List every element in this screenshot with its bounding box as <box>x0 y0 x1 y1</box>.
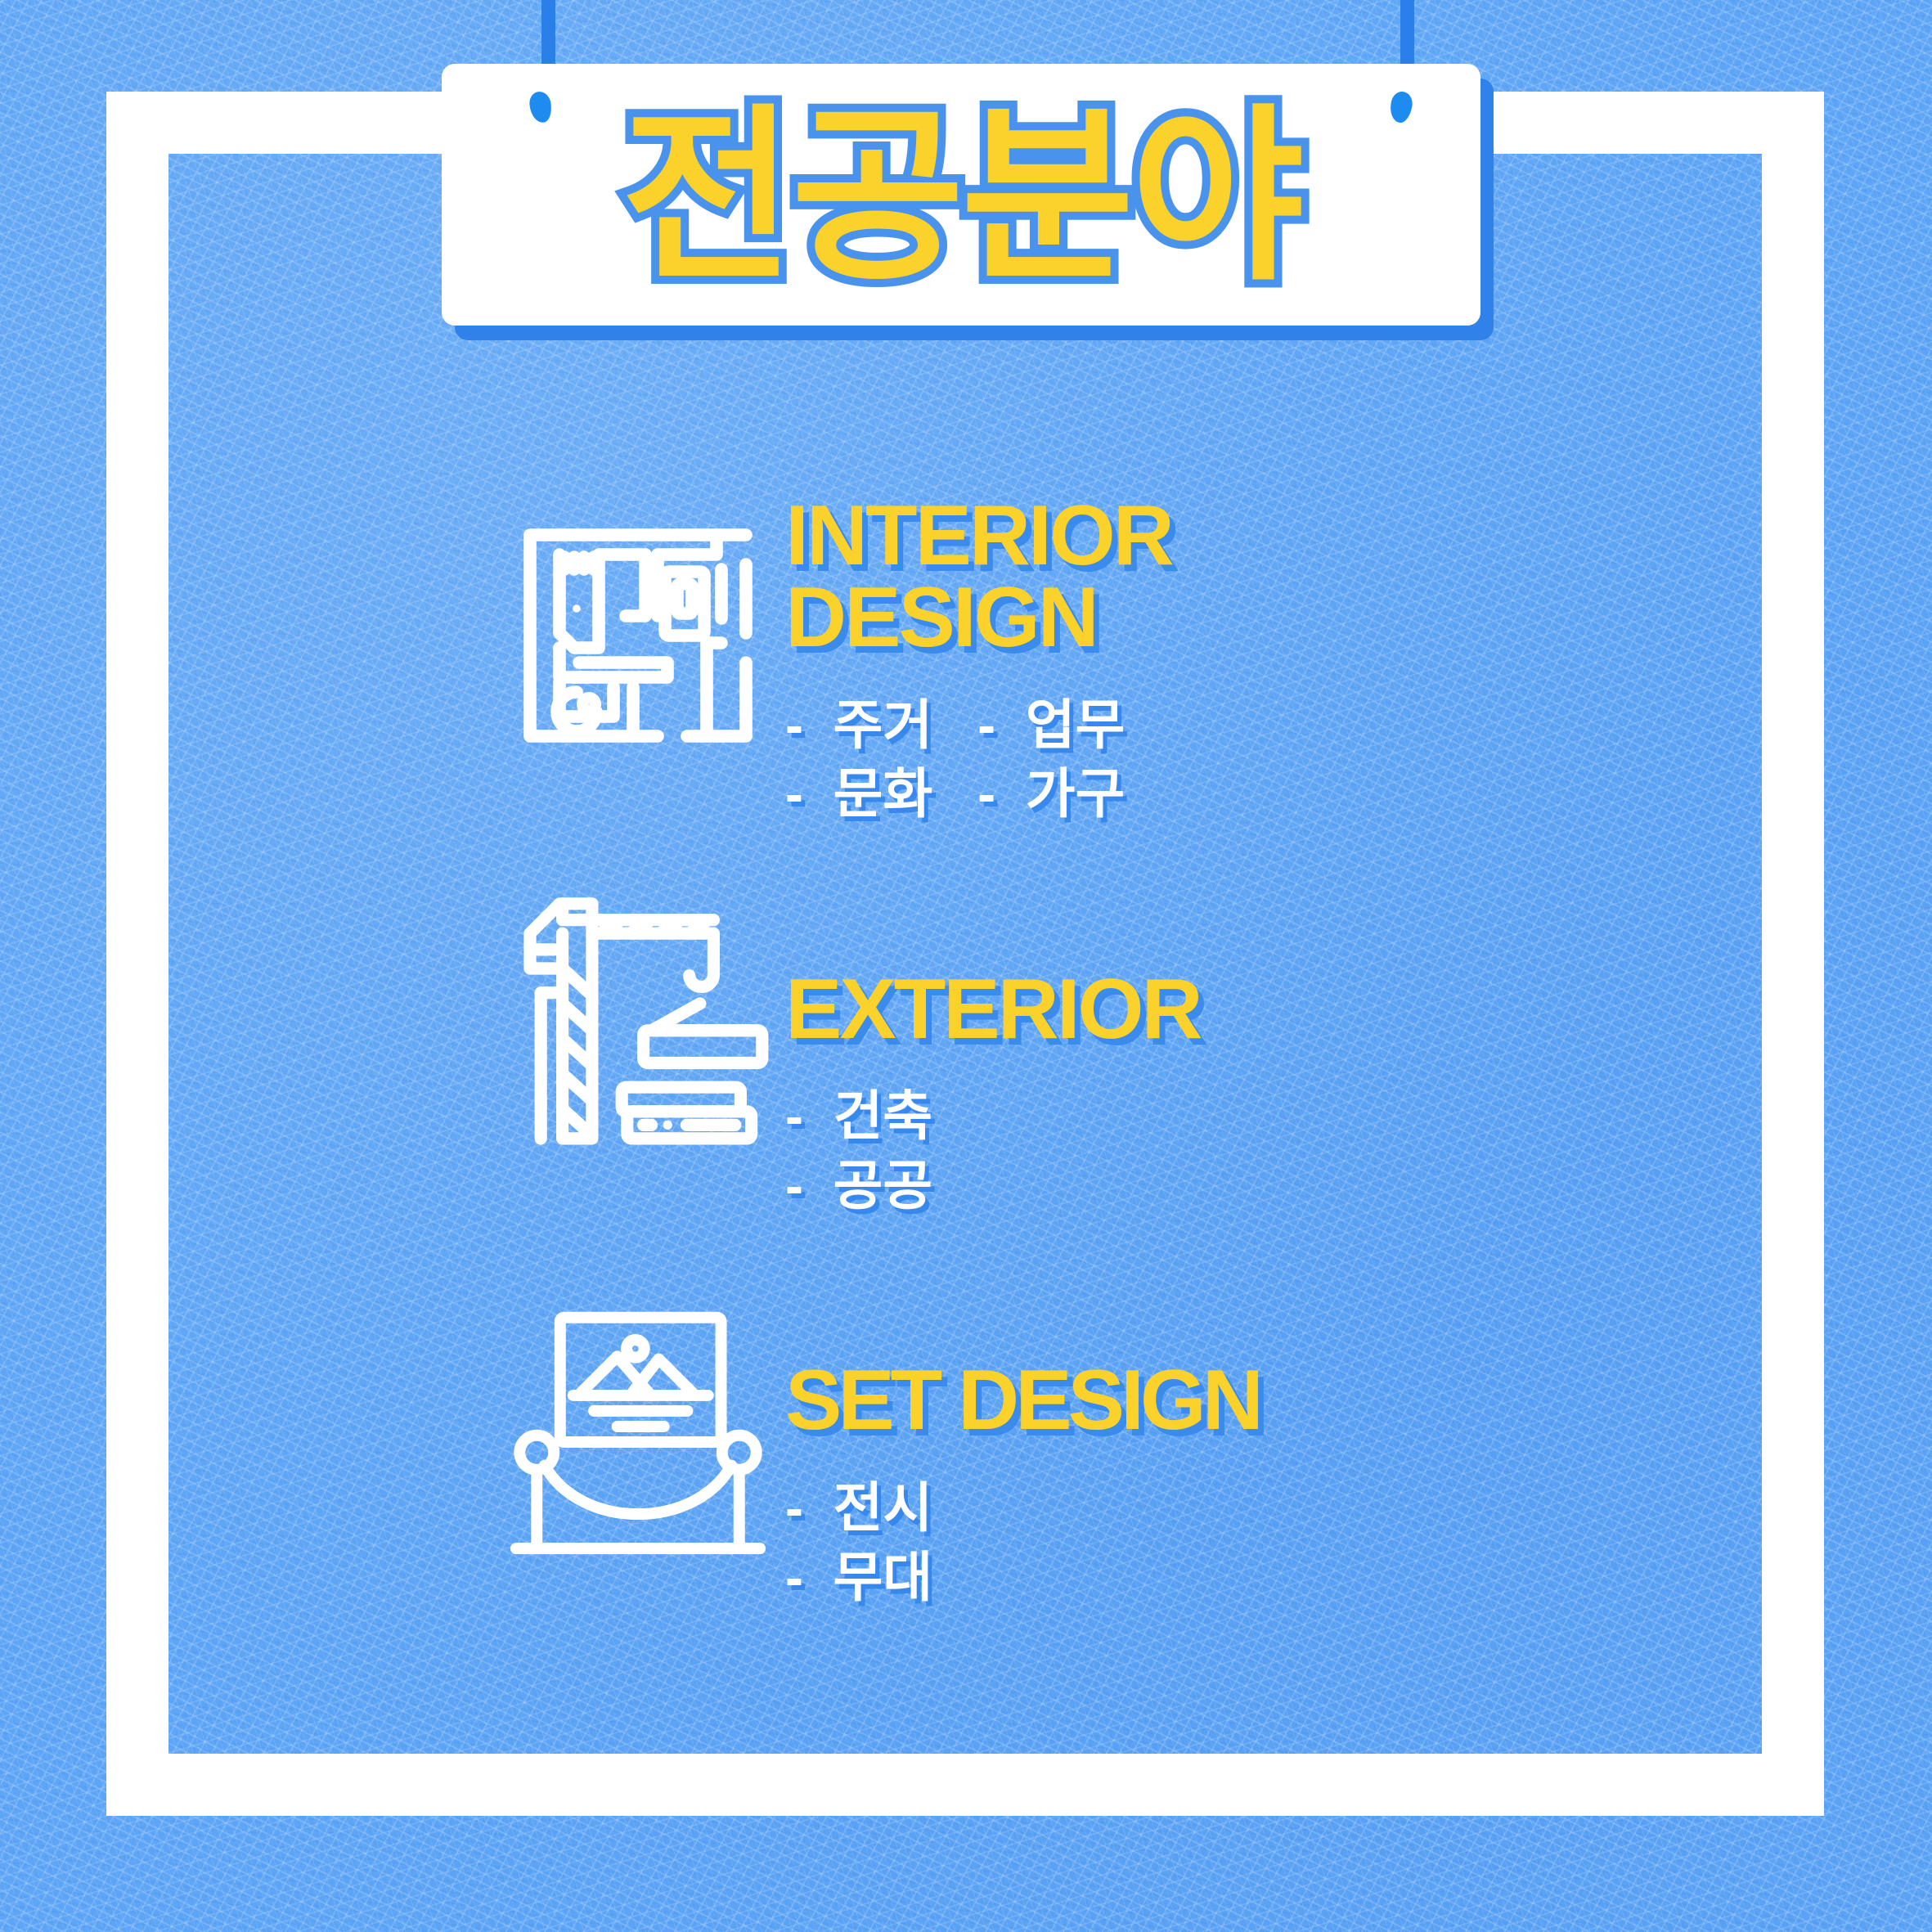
section-set-design: SET DESIGN - 전시 - 무대 <box>491 1277 1513 1611</box>
icon-column <box>491 491 785 751</box>
bullet-list: - 주거 - 업무 - 문화 - 가구 <box>785 690 1513 829</box>
section-heading: EXTERIOR <box>785 969 1513 1051</box>
poster-canvas: 전공분야 <box>0 0 1932 1932</box>
bullet-item: - 주거 - 업무 <box>785 690 1513 759</box>
bullet-item: - 무대 <box>785 1543 1513 1611</box>
section-interior-design: INTERIOR DESIGN - 주거 - 업무 - 문화 - 가구 <box>491 491 1513 829</box>
bullet-item: - 건축 <box>785 1081 1513 1150</box>
floor-plan-icon <box>515 505 761 751</box>
bullet-item: - 문화 - 가구 <box>785 759 1513 828</box>
exhibition-frame-rope-icon <box>507 1292 769 1561</box>
section-exterior: EXTERIOR - 건축 - 공공 <box>491 887 1513 1220</box>
bullet-list: - 전시 - 무대 <box>785 1473 1513 1611</box>
section-heading: SET DESIGN <box>785 1360 1513 1442</box>
bullet-item: - 전시 <box>785 1473 1513 1542</box>
page-title: 전공분야 <box>442 103 1480 291</box>
sections-list: INTERIOR DESIGN - 주거 - 업무 - 문화 - 가구 <box>491 491 1513 1611</box>
text-column: SET DESIGN - 전시 - 무대 <box>785 1277 1513 1611</box>
construction-crane-icon <box>503 887 773 1157</box>
text-column: EXTERIOR - 건축 - 공공 <box>785 887 1513 1220</box>
icon-column <box>491 1277 785 1561</box>
section-heading: INTERIOR DESIGN <box>785 496 1513 659</box>
bullet-item: - 공공 <box>785 1151 1513 1220</box>
icon-column <box>491 887 785 1157</box>
bullet-list: - 건축 - 공공 <box>785 1081 1513 1220</box>
text-column: INTERIOR DESIGN - 주거 - 업무 - 문화 - 가구 <box>785 491 1513 829</box>
